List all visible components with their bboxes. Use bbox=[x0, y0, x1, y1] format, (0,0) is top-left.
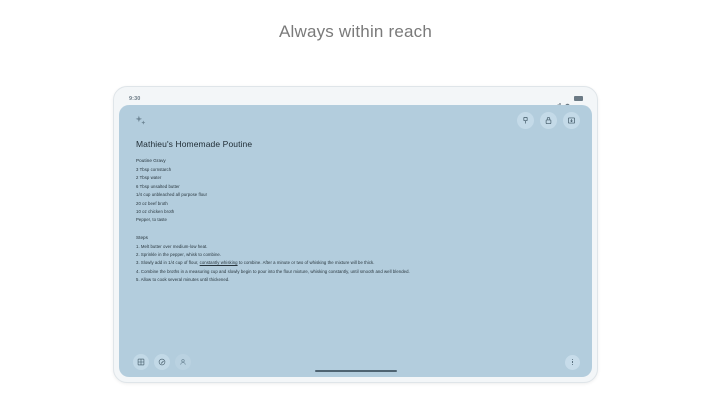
tablet-device: 9:30 bbox=[113, 86, 598, 383]
list-item: 10 oz chicken broth bbox=[136, 208, 576, 216]
note-topbar-left bbox=[132, 112, 148, 128]
more-dot bbox=[572, 361, 573, 362]
page-title: Always within reach bbox=[0, 22, 711, 42]
list-item: 2. Sprinkle in the pepper, whisk to comb… bbox=[136, 251, 576, 259]
list-item: 2 Tbsp water bbox=[136, 174, 576, 182]
battery-icon bbox=[574, 96, 583, 101]
list-item: 1/4 cup unbleached all purpose flour bbox=[136, 191, 576, 199]
status-time: 9:30 bbox=[129, 96, 140, 102]
table-button[interactable] bbox=[133, 354, 149, 370]
pin-button[interactable] bbox=[517, 112, 534, 129]
more-dot bbox=[572, 359, 573, 360]
list-item: 4. Combine the broths in a measuring cup… bbox=[136, 268, 576, 276]
draw-button[interactable] bbox=[154, 354, 170, 370]
note-title: Mathieu's Homemade Poutine bbox=[136, 139, 576, 149]
list-item: Pepper, to taste bbox=[136, 216, 576, 224]
status-icon-group bbox=[554, 96, 583, 102]
note-tool-group bbox=[133, 354, 191, 370]
list-item: 6 Tbsp unsalted butter bbox=[136, 183, 576, 191]
list-item-underlined: 3. Slowly add in 1/4 cup of flour, const… bbox=[136, 259, 576, 267]
home-indicator[interactable] bbox=[315, 370, 397, 373]
list-item: 5. Allow to cook several minutes until t… bbox=[136, 276, 576, 284]
note-app-surface: Mathieu's Homemade Poutine Poutine Gravy… bbox=[119, 105, 592, 377]
section-divider bbox=[136, 225, 576, 235]
note-section-ingredients: Poutine Gravy 3 Tbsp cornstarch 2 Tbsp w… bbox=[136, 158, 576, 225]
note-topbar-actions bbox=[517, 112, 580, 129]
wifi-icon bbox=[564, 96, 571, 102]
status-bar: 9:30 bbox=[119, 92, 592, 105]
archive-button[interactable] bbox=[563, 112, 580, 129]
more-options-button[interactable] bbox=[565, 355, 580, 370]
share-button[interactable] bbox=[175, 354, 191, 370]
section-heading: Poutine Gravy bbox=[136, 158, 576, 163]
note-section-steps: Steps 1. Melt butter over medium-low hea… bbox=[136, 235, 576, 285]
list-item: 1. Melt butter over medium-low heat. bbox=[136, 243, 576, 251]
section-heading: Steps bbox=[136, 235, 576, 240]
note-bottom-toolbar bbox=[119, 347, 592, 377]
note-content[interactable]: Mathieu's Homemade Poutine Poutine Gravy… bbox=[119, 135, 592, 347]
list-item: 20 oz beef broth bbox=[136, 200, 576, 208]
lock-button[interactable] bbox=[540, 112, 557, 129]
list-item: 3 Tbsp cornstarch bbox=[136, 166, 576, 174]
sparkle-icon[interactable] bbox=[132, 112, 148, 128]
note-top-toolbar bbox=[119, 105, 592, 135]
signal-icon bbox=[554, 96, 561, 102]
more-dot bbox=[572, 364, 573, 365]
